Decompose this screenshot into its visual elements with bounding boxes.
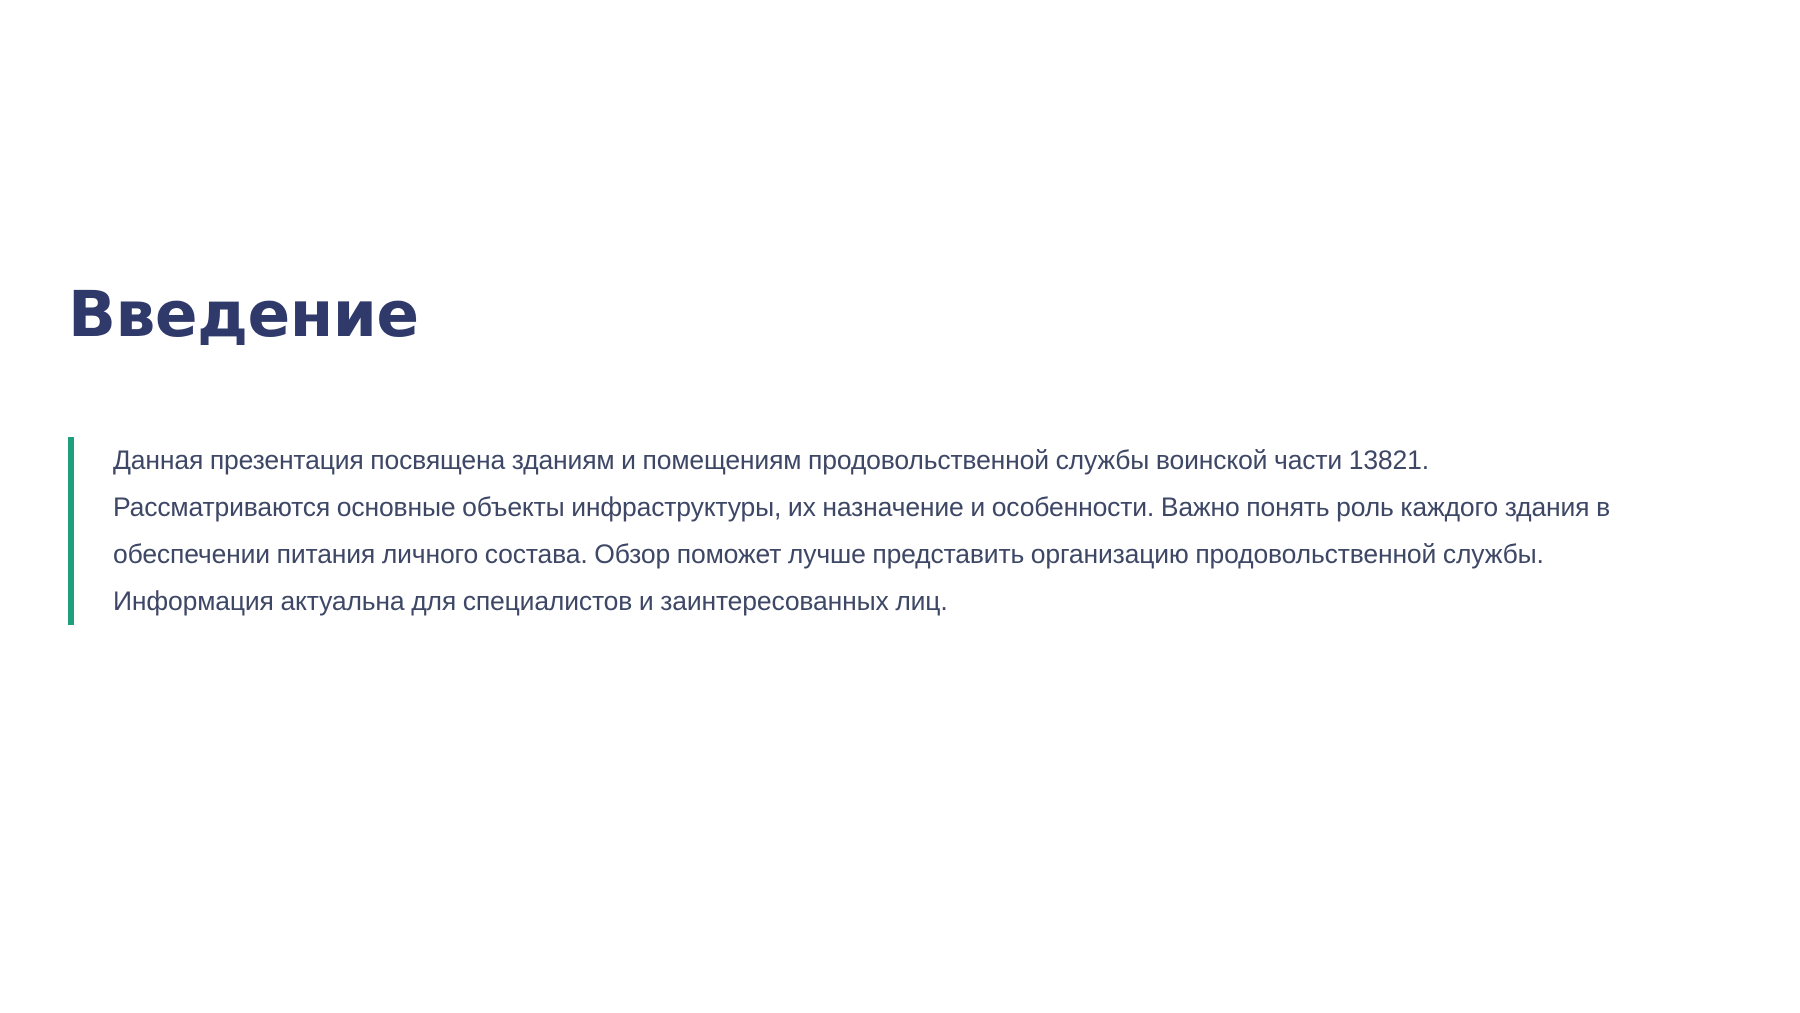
slide-body-text: Данная презентация посвящена зданиям и п…	[74, 437, 1628, 625]
body-text-block: Данная презентация посвящена зданиям и п…	[68, 437, 1628, 625]
slide-title: Введение	[68, 276, 419, 354]
slide-content-area: Введение Данная презентация посвящена зд…	[68, 0, 1748, 1013]
presentation-slide: Введение Данная презентация посвящена зд…	[0, 0, 1800, 1013]
